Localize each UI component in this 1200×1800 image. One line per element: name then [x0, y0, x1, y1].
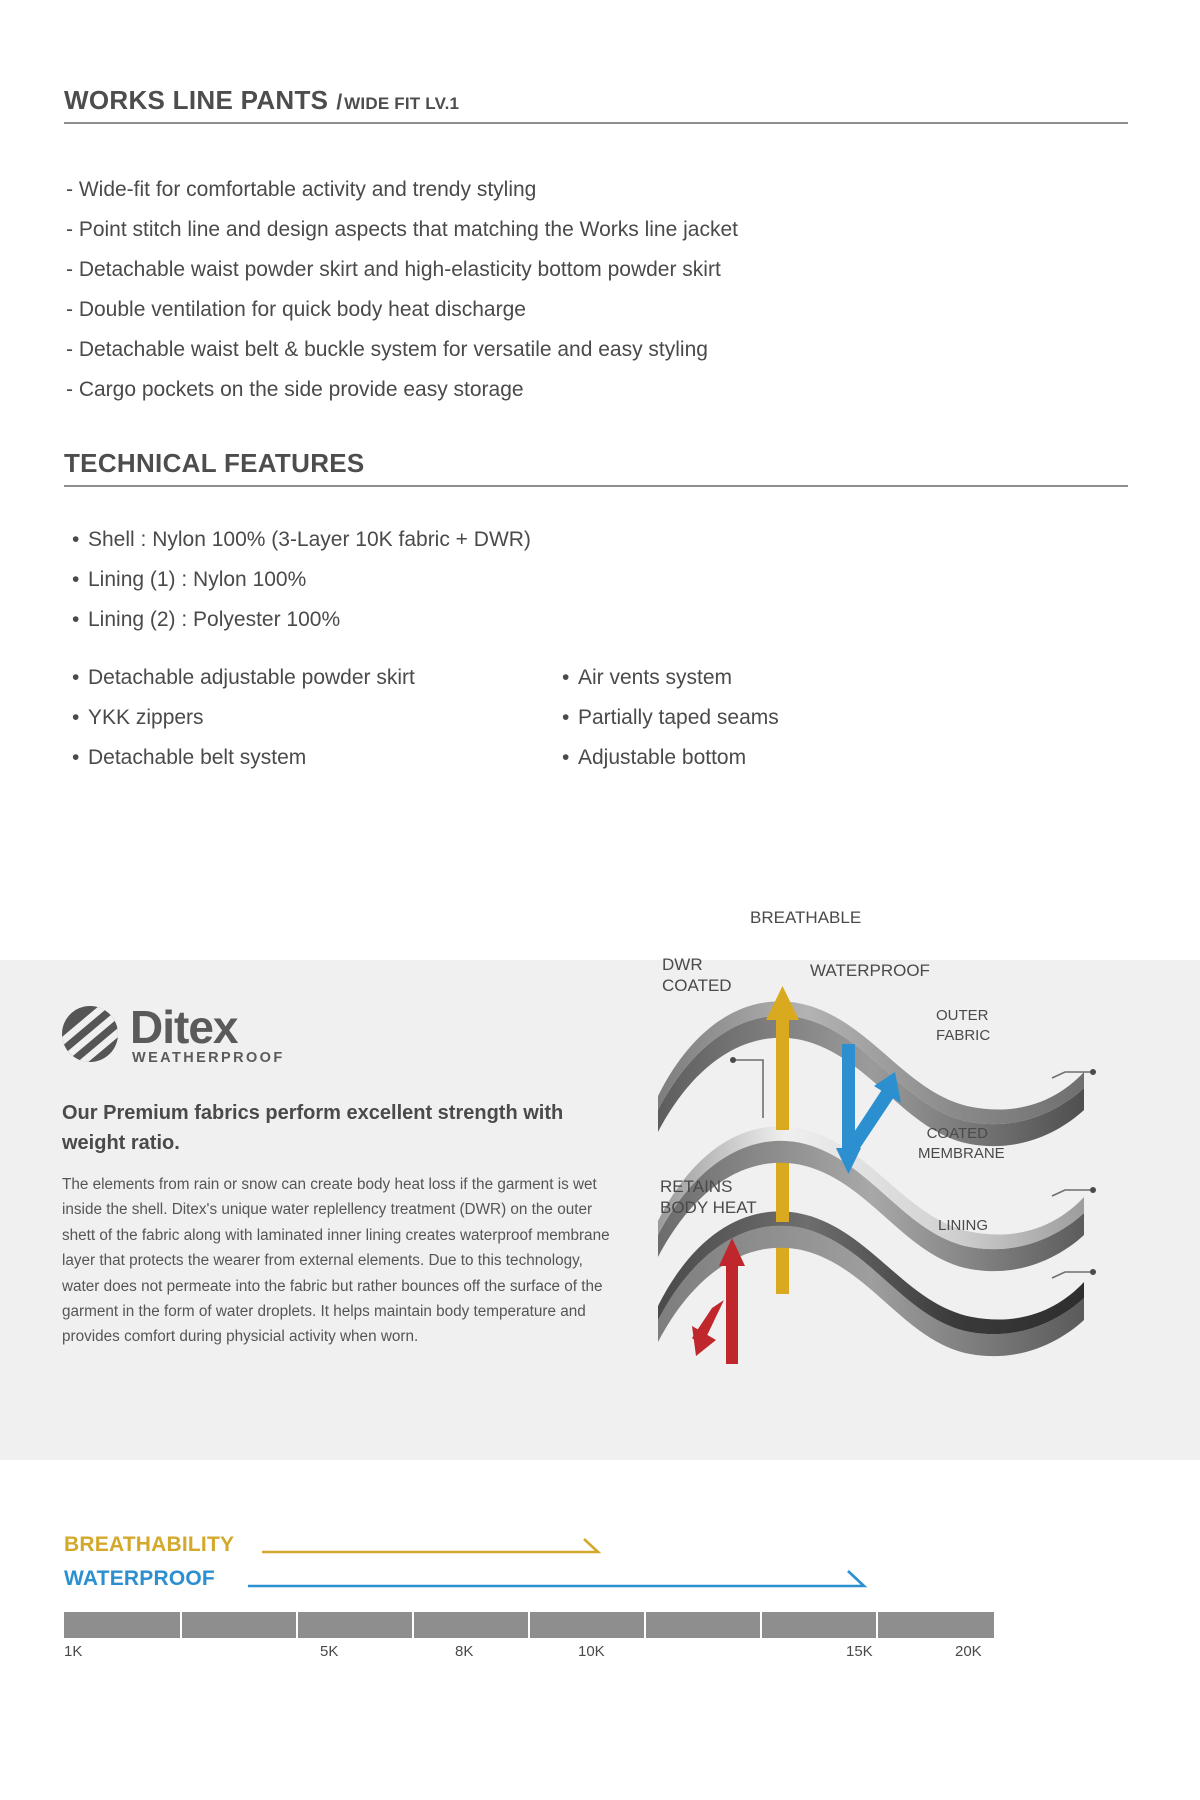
scale-bar-track [64, 1612, 994, 1638]
list-item: •YKK zippers [72, 698, 562, 738]
list-item: •Partially taped seams [562, 698, 962, 738]
technical-features-header: TECHNICAL FEATURES [64, 448, 1128, 487]
tick-label: 5K [320, 1643, 338, 1660]
list-item-label: Adjustable bottom [578, 746, 746, 769]
product-subtitle: WIDE FIT LV.1 [344, 94, 459, 113]
tick-label: 20K [955, 1643, 982, 1660]
scale-arrows [0, 1525, 1200, 1615]
brand-tagline: WEATHERPROOF [132, 1050, 285, 1066]
list-item: - Point stitch line and design aspects t… [66, 210, 738, 250]
bullet-icon: • [72, 520, 88, 560]
product-title-header: WORKS LINE PANTS/WIDE FIT LV.1 [64, 85, 1128, 124]
bullet-icon: • [72, 698, 88, 738]
label-dwr-line2: COATED [662, 976, 732, 995]
label-retains-body-heat: RETAINS BODY HEAT [660, 1176, 757, 1218]
feature-column-left: •Detachable adjustable powder skirt •YKK… [72, 658, 562, 778]
feature-columns: •Detachable adjustable powder skirt •YKK… [72, 658, 972, 778]
label-lining: LINING [926, 1216, 988, 1236]
list-item: •Detachable belt system [72, 738, 562, 778]
fabric-layer-diagram: BREATHABLE WATERPROOF DWR COATED RETAINS… [640, 960, 1200, 1460]
list-item: - Cargo pockets on the side provide easy… [66, 370, 738, 410]
bullet-icon: • [72, 600, 88, 640]
list-item-label: Detachable adjustable powder skirt [88, 666, 415, 689]
ditex-logo: Ditex WEATHERPROOF [62, 1002, 362, 1072]
label-membrane-line2: MEMBRANE [918, 1145, 1005, 1162]
list-item: •Air vents system [562, 658, 962, 698]
list-item-label: Partially taped seams [578, 706, 779, 729]
tick-label: 8K [455, 1643, 473, 1660]
title-separator: / [328, 91, 344, 114]
label-coated-membrane: COATED MEMBRANE [918, 1124, 988, 1164]
ditex-description: The elements from rain or snow can creat… [62, 1172, 614, 1350]
scale-ticks: 1K 5K 8K 10K 15K 20K [0, 1643, 1200, 1667]
label-retains-line1: RETAINS [660, 1177, 732, 1196]
list-item: - Detachable waist powder skirt and high… [66, 250, 738, 290]
material-list: •Shell : Nylon 100% (3-Layer 10K fabric … [72, 520, 531, 640]
bullet-icon: • [72, 738, 88, 778]
tick-label: 15K [846, 1643, 873, 1660]
list-item-label: Lining (2) : Polyester 100% [88, 608, 340, 631]
list-item: •Lining (2) : Polyester 100% [72, 600, 531, 640]
feature-column-right: •Air vents system •Partially taped seams… [562, 658, 962, 778]
list-item-label: Lining (1) : Nylon 100% [88, 568, 306, 591]
bullet-icon: • [562, 658, 578, 698]
list-item: - Wide-fit for comfortable activity and … [66, 170, 738, 210]
tick-label: 10K [578, 1643, 605, 1660]
bullet-icon: • [72, 658, 88, 698]
ditex-headline: Our Premium fabrics perform excellent st… [62, 1098, 622, 1158]
label-membrane-line1: COATED [927, 1125, 988, 1142]
tick-label: 1K [64, 1643, 82, 1660]
label-dwr-coated: DWR COATED [662, 954, 732, 996]
list-item: •Detachable adjustable powder skirt [72, 658, 562, 698]
list-item: •Shell : Nylon 100% (3-Layer 10K fabric … [72, 520, 531, 560]
bullet-icon: • [562, 698, 578, 738]
label-outer-fabric: OUTER FABRIC [936, 1006, 988, 1046]
label-outer-line1: OUTER [936, 1007, 989, 1024]
list-item-label: YKK zippers [88, 706, 204, 729]
list-item-label: Air vents system [578, 666, 732, 689]
list-item-label: Detachable belt system [88, 746, 306, 769]
list-item-label: Shell : Nylon 100% (3-Layer 10K fabric +… [88, 528, 531, 551]
list-item: - Double ventilation for quick body heat… [66, 290, 738, 330]
label-outer-line2: FABRIC [936, 1027, 990, 1044]
label-retains-line2: BODY HEAT [660, 1198, 757, 1217]
product-spec-page: WORKS LINE PANTS/WIDE FIT LV.1 - Wide-fi… [0, 0, 1200, 1800]
ditex-panel: Ditex WEATHERPROOF Our Premium fabrics p… [0, 960, 1200, 1460]
ditex-mark-icon [62, 1006, 118, 1062]
bullet-icon: • [562, 738, 578, 778]
page-title: WORKS LINE PANTS [64, 85, 328, 115]
label-dwr-line1: DWR [662, 955, 703, 974]
label-waterproof: WATERPROOF [810, 961, 930, 981]
brand-name: Ditex [130, 1002, 237, 1052]
list-item: •Lining (1) : Nylon 100% [72, 560, 531, 600]
section-title: TECHNICAL FEATURES [64, 448, 365, 478]
bullet-icon: • [72, 560, 88, 600]
performance-scale-chart: BREATHABILITY WATERPROOF 1K 5K 8K 10K 15… [0, 1525, 1200, 1685]
list-item: •Adjustable bottom [562, 738, 962, 778]
label-breathable: BREATHABLE [750, 908, 990, 928]
list-item: - Detachable waist belt & buckle system … [66, 330, 738, 370]
product-feature-list: - Wide-fit for comfortable activity and … [66, 170, 738, 410]
